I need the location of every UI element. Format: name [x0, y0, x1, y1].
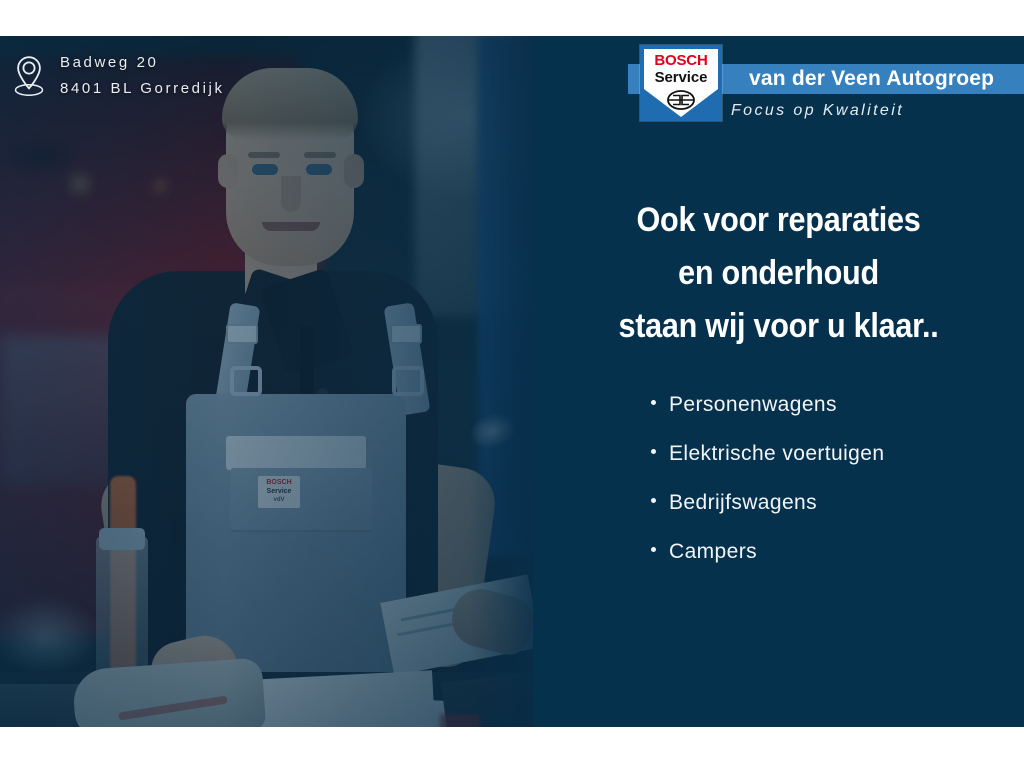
service-label: Elektrische voertuigen: [669, 440, 884, 468]
address-text: Badweg 20 8401 BL Gorredijk: [60, 50, 225, 102]
promo-banner: BOSCHServicevdV: [0, 36, 1024, 727]
bosch-service-badge-icon: BOSCH Service: [640, 45, 722, 121]
photo-vignette: [0, 36, 533, 727]
banner-canvas: BOSCHServicevdV: [0, 0, 1024, 768]
address-line-2: 8401 BL Gorredijk: [60, 76, 225, 102]
company-name: van der Veen Autogroep: [749, 67, 994, 91]
brand-header: BOSCH Service van der Veen Autogroep Foc…: [533, 36, 1024, 136]
service-label: Personenwagens: [669, 391, 837, 419]
company-tagline: Focus op Kwaliteit: [731, 102, 904, 120]
bullet-dot-icon: [651, 449, 656, 454]
bosch-wordmark: BOSCH: [649, 53, 713, 69]
bullet-dot-icon: [651, 400, 656, 405]
services-list: Personenwagens Elektrische voertuigen Be…: [651, 391, 1024, 587]
list-item: Bedrijfswagens: [651, 489, 1024, 517]
headline-line-2: en onderhoud: [558, 247, 1000, 300]
headline: Ook voor reparaties en onderhoud staan w…: [558, 194, 1000, 353]
service-label: Campers: [669, 538, 757, 566]
address-block: Badweg 20 8401 BL Gorredijk: [12, 50, 225, 102]
list-item: Personenwagens: [651, 391, 1024, 419]
service-label: Bedrijfswagens: [669, 489, 817, 517]
map-pin-icon: [12, 54, 46, 98]
service-wordmark: Service: [649, 70, 713, 86]
bosch-armature-icon: [667, 90, 695, 110]
mechanic-photo: BOSCHServicevdV: [0, 36, 533, 727]
list-item: Campers: [651, 538, 1024, 566]
bullet-dot-icon: [651, 547, 656, 552]
headline-line-3: staan wij voor u klaar..: [558, 300, 1000, 353]
bullet-dot-icon: [651, 498, 656, 503]
address-line-1: Badweg 20: [60, 50, 225, 76]
list-item: Elektrische voertuigen: [651, 440, 1024, 468]
headline-line-1: Ook voor reparaties: [558, 194, 1000, 247]
info-panel: BOSCH Service van der Veen Autogroep Foc…: [533, 36, 1024, 727]
